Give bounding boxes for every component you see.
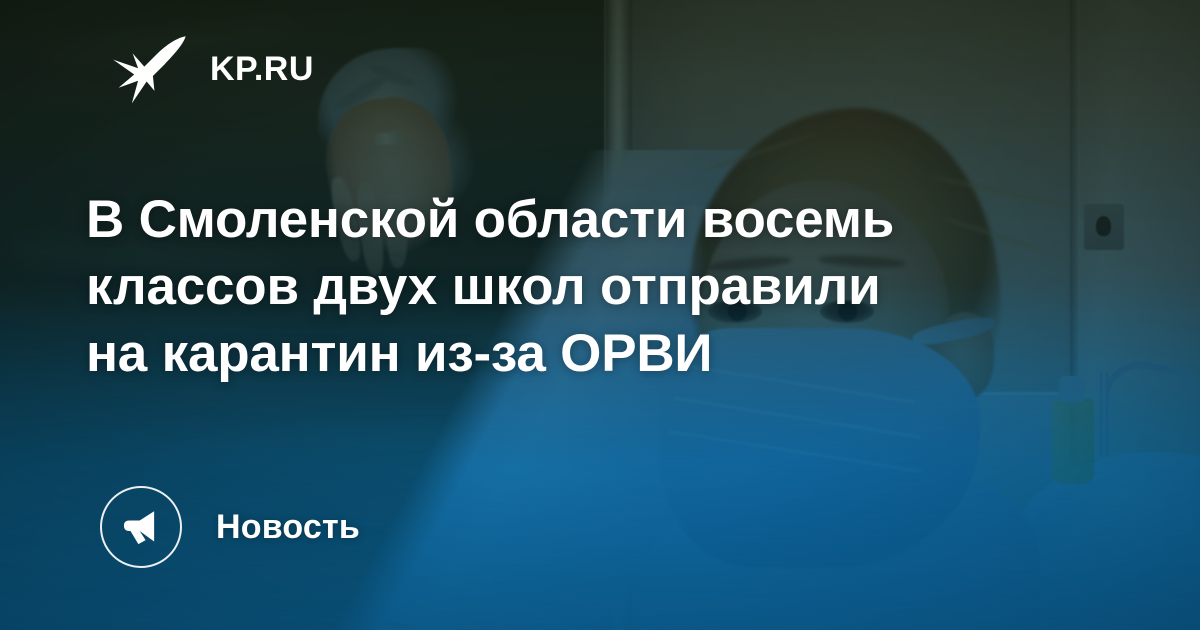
megaphone-icon: [120, 506, 162, 548]
status-badge[interactable]: Новость: [100, 486, 360, 568]
megaphone-badge: [100, 486, 182, 568]
headline-line-2: классов двух школ отправили: [86, 253, 996, 320]
headline-line-1: В Смоленской области восемь: [86, 186, 996, 253]
brand-lockup[interactable]: KP.RU: [110, 30, 314, 108]
card-content: KP.RU В Смоленской области восемь классо…: [0, 0, 1200, 630]
page-title: В Смоленской области восемь классов двух…: [86, 186, 996, 387]
brand-name: KP.RU: [210, 52, 314, 86]
news-share-card: стр. 26 №7(б) стр. 27 №8(б): [0, 0, 1200, 630]
headline-line-3: на карантин из-за ОРВИ: [86, 320, 996, 387]
swallow-bird-icon: [110, 30, 188, 108]
status-badge-label: Новость: [216, 510, 360, 544]
